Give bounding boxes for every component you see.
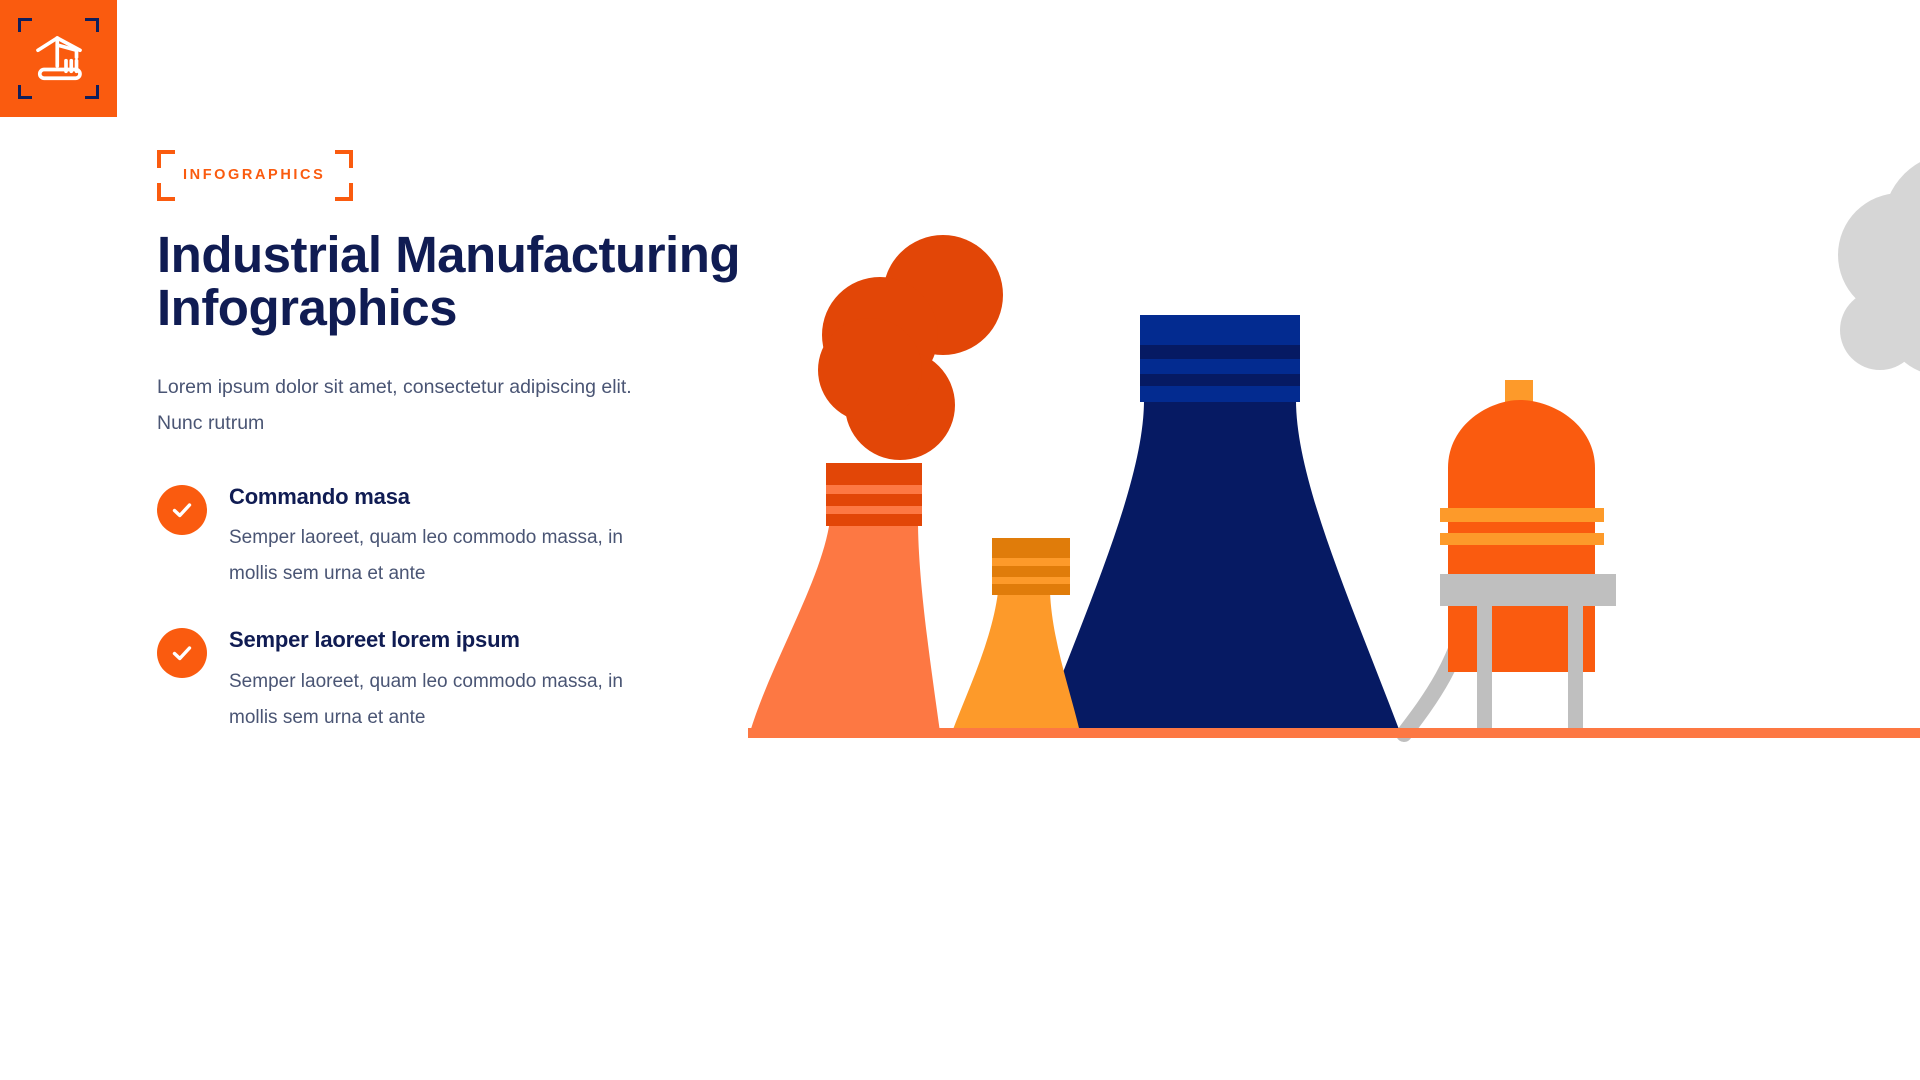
list-item[interactable]: Semper laoreet lorem ipsum Semper laoree… [157, 624, 757, 736]
gray-smoke-cloud [1838, 153, 1920, 375]
page-title: Industrial Manufacturing Infographics [157, 228, 757, 334]
corner-mark-top-left [18, 18, 32, 32]
orange-smoke-cloud [818, 235, 1003, 460]
feature-title: Semper laoreet lorem ipsum [229, 626, 669, 654]
check-circle-icon [157, 485, 207, 535]
corner-mark-top-right [85, 18, 99, 32]
feature-list: Commando masa Semper laoreet, quam leo c… [157, 481, 757, 736]
crane-icon [31, 31, 87, 87]
feature-text: Semper laoreet lorem ipsum Semper laoree… [229, 624, 669, 736]
check-circle-icon [157, 628, 207, 678]
logo-badge[interactable] [0, 0, 117, 117]
feature-body: Semper laoreet, quam leo commodo massa, … [229, 664, 669, 736]
subtitle-paragraph: Lorem ipsum dolor sit amet, consectetur … [157, 369, 677, 441]
eyebrow-corner-bottom-left [157, 183, 175, 201]
list-item[interactable]: Commando masa Semper laoreet, quam leo c… [157, 481, 757, 593]
eyebrow-corner-bottom-right [335, 183, 353, 201]
corner-mark-bottom-left [18, 85, 32, 99]
ground-line [748, 728, 1920, 738]
eyebrow-corner-top-left [157, 150, 175, 168]
hero-content: INFOGRAPHICS Industrial Manufacturing In… [157, 150, 757, 768]
storage-tank-orange [1440, 380, 1616, 734]
corner-mark-bottom-right [85, 85, 99, 99]
feature-body: Semper laoreet, quam leo commodo massa, … [229, 520, 669, 592]
eyebrow-corner-top-right [335, 150, 353, 168]
feature-title: Commando masa [229, 483, 669, 511]
cooling-tower-navy [1040, 315, 1400, 732]
eyebrow-badge: INFOGRAPHICS [157, 150, 353, 201]
cooling-tower-amber [952, 538, 1080, 732]
cooling-tower-orange [750, 463, 940, 732]
eyebrow-label: INFOGRAPHICS [183, 168, 325, 183]
feature-text: Commando masa Semper laoreet, quam leo c… [229, 481, 669, 593]
industrial-factory-illustration [740, 0, 1920, 1080]
